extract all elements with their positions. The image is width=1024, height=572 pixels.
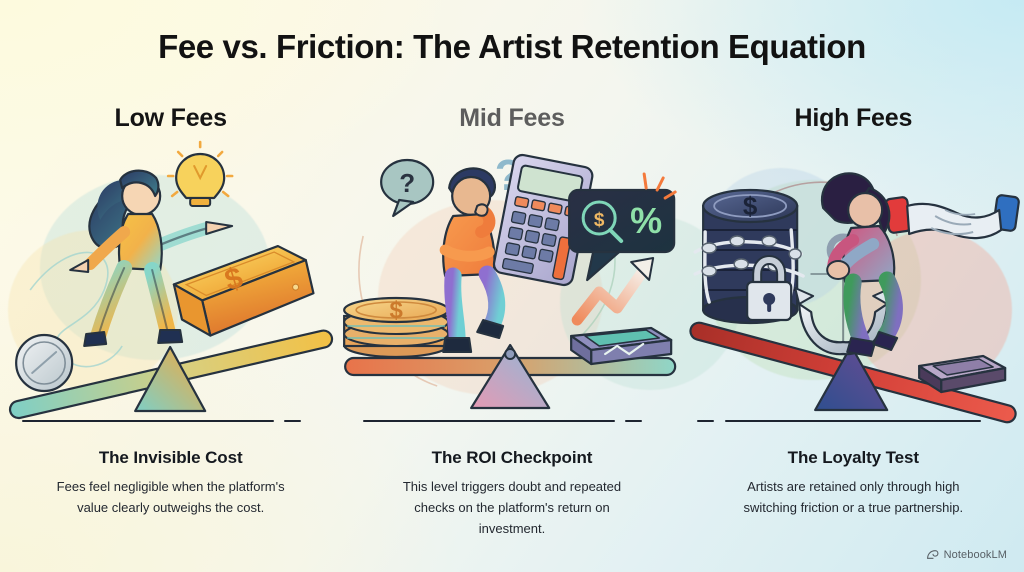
caption-body-high-fees: Artists are retained only through high s… xyxy=(725,476,981,518)
svg-text:%: % xyxy=(630,200,662,241)
caption-body-low-fees: Fees feel negligible when the platform's… xyxy=(43,476,299,518)
ground-line xyxy=(363,420,615,422)
notebooklm-watermark: NotebookLM xyxy=(926,548,1007,561)
notebooklm-spiral-icon xyxy=(926,548,939,561)
caption-title-high-fees: The Loyalty Test xyxy=(683,448,1024,468)
ground-line-high-fees xyxy=(683,414,1024,428)
ground-line xyxy=(22,420,274,422)
svg-text:$: $ xyxy=(594,210,605,231)
svg-text:$: $ xyxy=(390,297,404,324)
caption-body-mid-fees: This level triggers doubt and repeated c… xyxy=(384,476,640,539)
illustration-low-fees: $ xyxy=(0,140,341,430)
ground-line xyxy=(725,420,981,422)
illustration-high-fees: $ xyxy=(683,140,1024,430)
ground-dash xyxy=(625,420,642,422)
column-header-high-fees: High Fees xyxy=(683,104,1024,133)
columns-container: Low Fees xyxy=(0,96,1024,566)
page-title: Fee vs. Friction: The Artist Retention E… xyxy=(0,28,1024,66)
column-low-fees: Low Fees xyxy=(0,96,341,566)
caption-title-low-fees: The Invisible Cost xyxy=(0,448,341,468)
ground-line-low-fees xyxy=(0,414,341,428)
ground-dash xyxy=(284,420,301,422)
ground-dash xyxy=(697,420,714,422)
column-header-mid-fees: Mid Fees xyxy=(341,104,682,133)
svg-text:?: ? xyxy=(400,168,416,198)
svg-text:$: $ xyxy=(743,191,758,221)
caption-title-mid-fees: The ROI Checkpoint xyxy=(341,448,682,468)
column-header-low-fees: Low Fees xyxy=(0,104,341,133)
column-mid-fees: Mid Fees xyxy=(341,96,682,566)
illustration-mid-fees: $ ? ? xyxy=(341,140,682,430)
notebooklm-label: NotebookLM xyxy=(944,549,1007,561)
ground-line-mid-fees xyxy=(341,414,682,428)
infographic-canvas: Fee vs. Friction: The Artist Retention E… xyxy=(0,0,1024,572)
column-high-fees: High Fees xyxy=(683,96,1024,566)
